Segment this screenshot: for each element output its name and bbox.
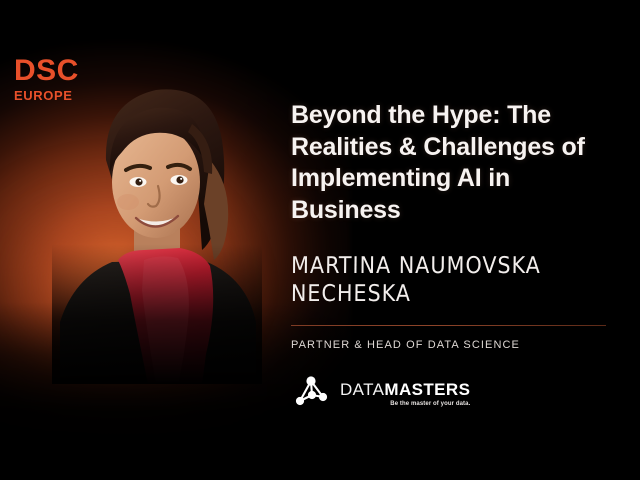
slide-text-column: Beyond the Hype: The Realities & Challen… [291,100,609,413]
logo-word-masters: MASTERS [384,380,470,399]
network-graph-icon [291,374,331,413]
dsc-logo-primary: DSC [14,56,92,86]
divider [291,325,606,326]
logo-word-data: DATA [340,380,384,399]
data-masters-wordmark: DATAMASTERS Be the master of your data. [340,381,470,407]
speaker-role: PARTNER & HEAD OF DATA SCIENCE [291,339,609,352]
logo-tagline: Be the master of your data. [340,401,470,407]
dsc-europe-logo: DSC EUROPE [14,56,92,102]
data-masters-logo: DATAMASTERS Be the master of your data. [291,374,609,413]
dsc-logo-secondary: EUROPE [14,89,92,102]
speaker-portrait [52,54,262,384]
video-content-frame: DSC EUROPE Beyond the Hype: The Realitie… [0,28,640,452]
presentation-title-slide: DSC EUROPE Beyond the Hype: The Realitie… [0,0,640,480]
speaker-name: MARTINA NAUMOVSKA NECHESKA [291,252,609,308]
talk-title: Beyond the Hype: The Realities & Challen… [291,100,609,226]
